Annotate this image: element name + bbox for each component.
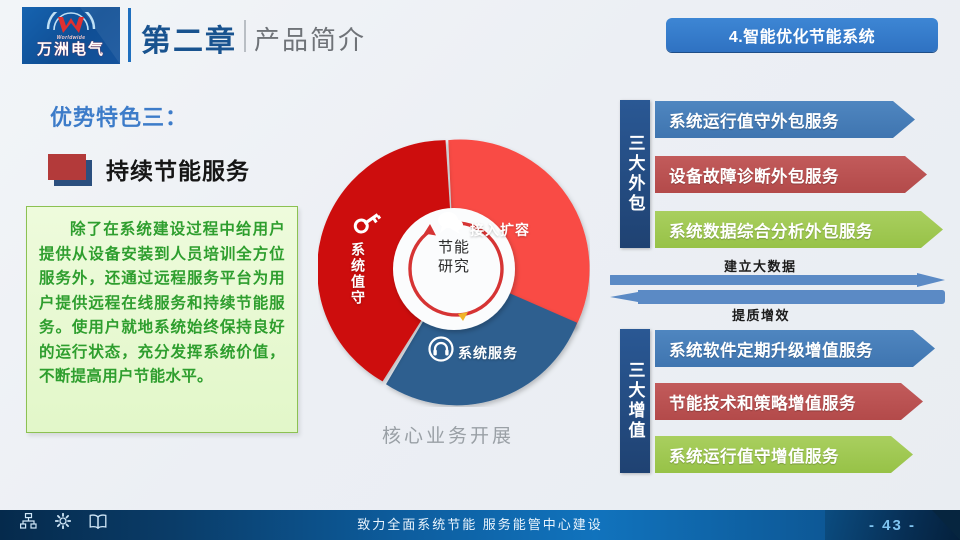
speech-bubble-icon <box>436 210 464 234</box>
feature-heading-row: 持续节能服务 <box>48 152 250 186</box>
logo-company-name: 万洲电气 <box>22 38 120 59</box>
page-corner-accent <box>932 510 960 540</box>
chapter-divider <box>244 20 246 52</box>
donut-caption: 核心业务开展 <box>382 421 514 448</box>
value-item-2[interactable]: 节能技术和策略增值服务 <box>655 383 923 420</box>
w-emblem-icon <box>22 11 120 37</box>
donut-label-duty: 系统值守 <box>348 242 368 306</box>
outsourcing-item-3[interactable]: 系统数据综合分析外包服务 <box>655 211 943 248</box>
slide-canvas: Worldwide 万洲电气 第二章 产品简介 优势特色三： 持续节能服务 除了… <box>0 0 960 540</box>
page-number-text: - 43 - <box>869 517 916 534</box>
description-note-text: 除了在系统建设过程中给用户提供从设备安装到人员培训全方位服务外，还通过远程服务平… <box>39 217 285 389</box>
arrow-left-efficiency-icon <box>610 290 945 304</box>
description-note-box: 除了在系统建设过程中给用户提供从设备安装到人员培训全方位服务外，还通过远程服务平… <box>26 206 298 433</box>
donut-center-line1: 节能 <box>414 238 494 257</box>
page-number: - 43 - <box>825 510 960 540</box>
outsourcing-item-2[interactable]: 设备故障诊断外包服务 <box>655 156 927 193</box>
group-label-value-added: 三大增值 <box>620 329 650 473</box>
chapter-title: 第二章 <box>141 16 237 60</box>
donut-center-line2: 研究 <box>414 257 494 276</box>
footer-slogan: 致力全面系统节能 服务能管中心建设 <box>0 514 960 533</box>
advantage-title: 优势特色三： <box>50 100 188 132</box>
key-icon <box>352 208 382 236</box>
footer-bar: 致力全面系统节能 服务能管中心建设 - 43 - <box>0 510 960 540</box>
value-item-1[interactable]: 系统软件定期升级增值服务 <box>655 330 935 367</box>
middle-arrow-top-label: 建立大数据 <box>724 256 797 275</box>
arrow-right-big-data-icon <box>610 273 945 287</box>
donut-center-text: 节能 研究 <box>414 238 494 276</box>
company-logo: Worldwide 万洲电气 <box>22 7 120 64</box>
core-business-donut: 接入扩容 系统服务 系统值守 节能 研究 <box>318 132 590 407</box>
group-label-outsourcing: 三大外包 <box>620 100 650 248</box>
header-accent-bar <box>128 8 131 62</box>
section-banner: 4.智能优化节能系统 <box>666 18 938 52</box>
outsourcing-item-1[interactable]: 系统运行值守外包服务 <box>655 101 915 138</box>
feature-square-icon <box>48 154 92 184</box>
value-item-3[interactable]: 系统运行值守增值服务 <box>655 436 913 473</box>
donut-label-service: 系统服务 <box>458 343 518 363</box>
middle-arrow-bottom-label: 提质增效 <box>732 305 790 324</box>
donut-label-access: 接入扩容 <box>470 220 530 240</box>
chapter-subtitle: 产品简介 <box>254 20 366 57</box>
feature-square-front <box>48 154 86 180</box>
headset-icon <box>428 336 454 362</box>
feature-label: 持续节能服务 <box>106 152 250 186</box>
